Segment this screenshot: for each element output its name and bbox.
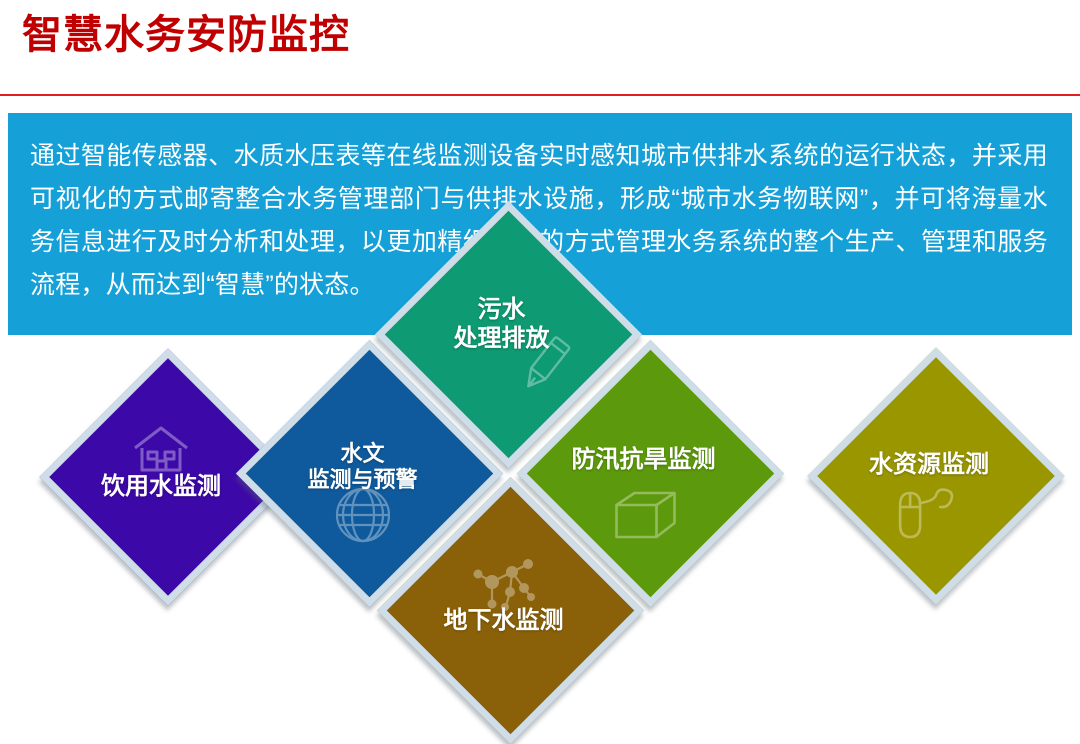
page-title: 智慧水务安防监控 xyxy=(22,12,350,58)
title-divider xyxy=(0,94,1080,96)
diamond-face xyxy=(807,347,1064,604)
diamond-node-water-resource[interactable]: 水资源监测 xyxy=(845,385,1013,553)
globe-icon xyxy=(332,484,394,546)
mouse-icon xyxy=(890,485,962,543)
diamond-node-drinking-water[interactable]: 饮用水监测 xyxy=(77,386,245,554)
diamond-node-sewage-treatment[interactable]: 污水 处理排放 xyxy=(414,240,589,415)
diamond-diagram: 污水 处理排放 饮用水监测 xyxy=(0,335,1080,693)
molecule-icon xyxy=(466,548,542,624)
house-icon xyxy=(131,424,191,476)
diamond-node-groundwater[interactable]: 地下水监测 xyxy=(416,516,591,691)
pencil-icon xyxy=(512,332,578,398)
book-icon xyxy=(608,487,682,543)
